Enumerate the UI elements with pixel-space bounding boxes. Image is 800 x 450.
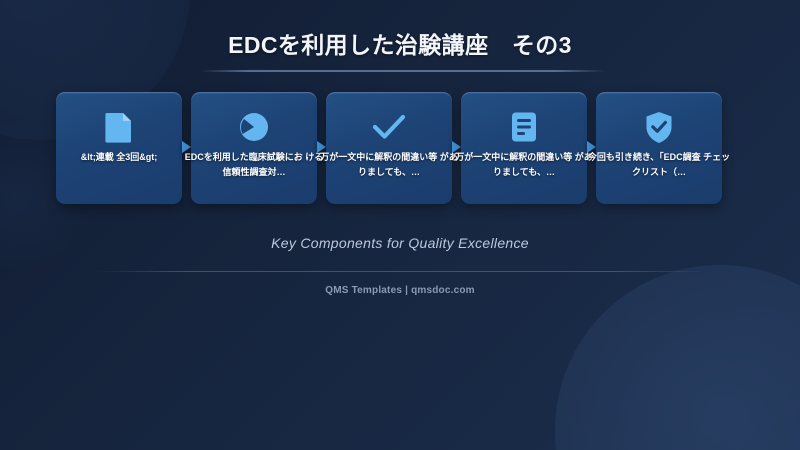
footer-attribution: QMS Templates | qmsdoc.com <box>0 285 800 296</box>
file-icon <box>56 107 182 147</box>
footer-divider <box>96 271 704 272</box>
check-icon <box>326 107 452 147</box>
document-lines-icon <box>461 107 587 147</box>
card-5[interactable]: 今回も引き続き、「EDC調査 チェックリスト（… <box>596 92 722 204</box>
subtitle: Key Components for Quality Excellence <box>0 235 800 251</box>
card-2[interactable]: EDCを利用した臨床試験にお ける信頼性調査対… <box>191 92 317 204</box>
shield-check-icon <box>596 107 722 147</box>
slide-canvas: EDCを利用した治験講座 その3 &lt;連載 全3回&gt; EDCを利用した… <box>0 0 800 450</box>
card-4[interactable]: 万が一文中に解釈の間違い等 がありましても、… <box>461 92 587 204</box>
card-label: 万が一文中に解釈の間違い等 がありましても、… <box>316 150 462 180</box>
card-label: EDCを利用した臨床試験にお ける信頼性調査対… <box>181 150 327 180</box>
card-3[interactable]: 万が一文中に解釈の間違い等 がありましても、… <box>326 92 452 204</box>
card-row: &lt;連載 全3回&gt; EDCを利用した臨床試験にお ける信頼性調査対… … <box>56 92 746 204</box>
title-divider <box>200 70 605 72</box>
pie-chart-icon <box>191 107 317 147</box>
page-title: EDCを利用した治験講座 その3 <box>0 26 800 60</box>
card-label: &lt;連載 全3回&gt; <box>46 150 192 165</box>
card-label: 万が一文中に解釈の間違い等 がありましても、… <box>451 150 597 180</box>
card-1[interactable]: &lt;連載 全3回&gt; <box>56 92 182 204</box>
card-label: 今回も引き続き、「EDC調査 チェックリスト（… <box>586 150 732 180</box>
